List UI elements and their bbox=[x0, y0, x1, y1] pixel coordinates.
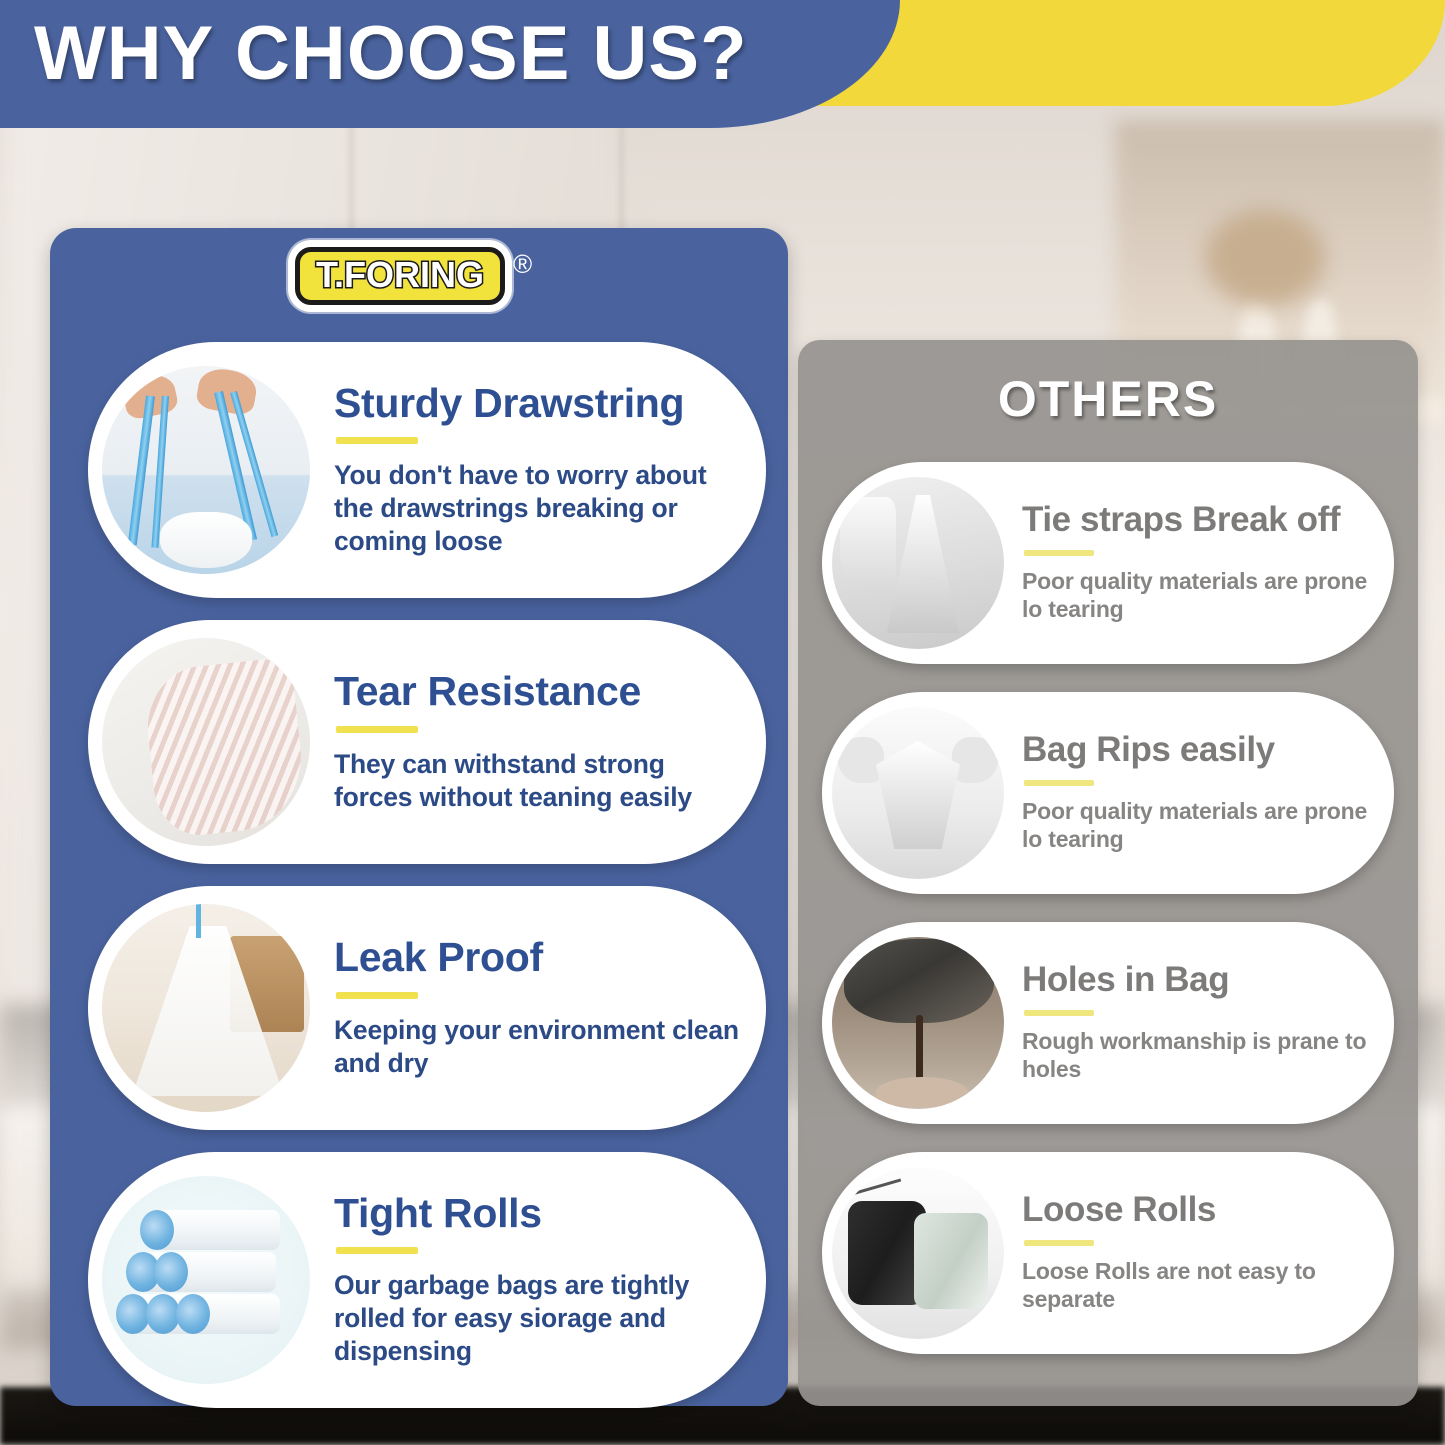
others-title: OTHERS bbox=[798, 370, 1418, 428]
accent-underline bbox=[336, 437, 418, 444]
feature-card[interactable]: Sturdy Drawstring You don't have to worr… bbox=[88, 342, 766, 598]
others-title-label: Tie straps Break off bbox=[1022, 502, 1380, 539]
brand-logo-badge: T.FORING bbox=[295, 247, 505, 305]
others-text: Holes in Bag Rough workmanship is prane … bbox=[1004, 962, 1394, 1084]
accent-underline bbox=[1024, 550, 1094, 556]
others-card[interactable]: Loose Rolls Loose Rolls are not easy to … bbox=[822, 1152, 1394, 1354]
accent-underline bbox=[336, 726, 418, 733]
feature-title: Leak Proof bbox=[334, 936, 740, 979]
others-photo-tie-straps bbox=[832, 477, 1004, 649]
feature-text: Leak Proof Keeping your environment clea… bbox=[310, 936, 766, 1080]
registered-trademark-icon: ® bbox=[513, 249, 532, 280]
others-title-label: Loose Rolls bbox=[1022, 1192, 1380, 1229]
accent-underline bbox=[336, 992, 418, 999]
feature-description: You don't have to worry about the drawst… bbox=[334, 459, 740, 558]
feature-text: Sturdy Drawstring You don't have to worr… bbox=[310, 382, 766, 559]
feature-card[interactable]: Tight Rolls Our garbage bags are tightly… bbox=[88, 1152, 766, 1408]
page-title: WHY CHOOSE US? bbox=[34, 16, 748, 92]
feature-photo-drawstring bbox=[102, 366, 310, 574]
feature-photo-tight-rolls bbox=[102, 1176, 310, 1384]
header-banner: WHY CHOOSE US? bbox=[0, 0, 1445, 128]
background-dried-flowers bbox=[1205, 210, 1325, 306]
feature-card[interactable]: Leak Proof Keeping your environment clea… bbox=[88, 886, 766, 1130]
others-text: Tie straps Break off Poor quality materi… bbox=[1004, 502, 1394, 624]
others-photo-holes-in-bag bbox=[832, 937, 1004, 1109]
feature-photo-leak-proof bbox=[102, 904, 310, 1112]
accent-underline bbox=[1024, 1240, 1094, 1246]
others-text: Bag Rips easily Poor quality materials a… bbox=[1004, 732, 1394, 854]
others-photo-bag-rips bbox=[832, 707, 1004, 879]
feature-description: Our garbage bags are tightly rolled for … bbox=[334, 1269, 740, 1368]
feature-photo-tear-resistance bbox=[102, 638, 310, 846]
others-card[interactable]: Bag Rips easily Poor quality materials a… bbox=[822, 692, 1394, 894]
feature-title: Sturdy Drawstring bbox=[334, 382, 740, 425]
feature-description: They can withstand strong forces without… bbox=[334, 748, 740, 814]
others-card[interactable]: Holes in Bag Rough workmanship is prane … bbox=[822, 922, 1394, 1124]
others-description: Loose Rolls are not easy to separate bbox=[1022, 1257, 1380, 1315]
header-blue-bar: WHY CHOOSE US? bbox=[0, 0, 900, 128]
accent-underline bbox=[1024, 1010, 1094, 1016]
others-description: Rough workmanship is prane to holes bbox=[1022, 1027, 1380, 1085]
others-text: Loose Rolls Loose Rolls are not easy to … bbox=[1004, 1192, 1394, 1314]
others-card[interactable]: Tie straps Break off Poor quality materi… bbox=[822, 462, 1394, 664]
accent-underline bbox=[1024, 780, 1094, 786]
brand-logo-text: T.FORING bbox=[316, 257, 484, 293]
brand-logo: T.FORING ® bbox=[295, 247, 532, 305]
feature-card[interactable]: Tear Resistance They can withstand stron… bbox=[88, 620, 766, 864]
feature-title: Tear Resistance bbox=[334, 670, 740, 713]
others-title-label: Holes in Bag bbox=[1022, 962, 1380, 999]
others-description: Poor quality materials are prone lo tear… bbox=[1022, 797, 1380, 855]
feature-text: Tight Rolls Our garbage bags are tightly… bbox=[310, 1192, 766, 1369]
accent-underline bbox=[336, 1247, 418, 1254]
others-description: Poor quality materials are prone lo tear… bbox=[1022, 567, 1380, 625]
others-photo-loose-rolls bbox=[832, 1167, 1004, 1339]
others-title-label: Bag Rips easily bbox=[1022, 732, 1380, 769]
feature-description: Keeping your environment clean and dry bbox=[334, 1014, 740, 1080]
feature-title: Tight Rolls bbox=[334, 1192, 740, 1235]
feature-text: Tear Resistance They can withstand stron… bbox=[310, 670, 766, 814]
